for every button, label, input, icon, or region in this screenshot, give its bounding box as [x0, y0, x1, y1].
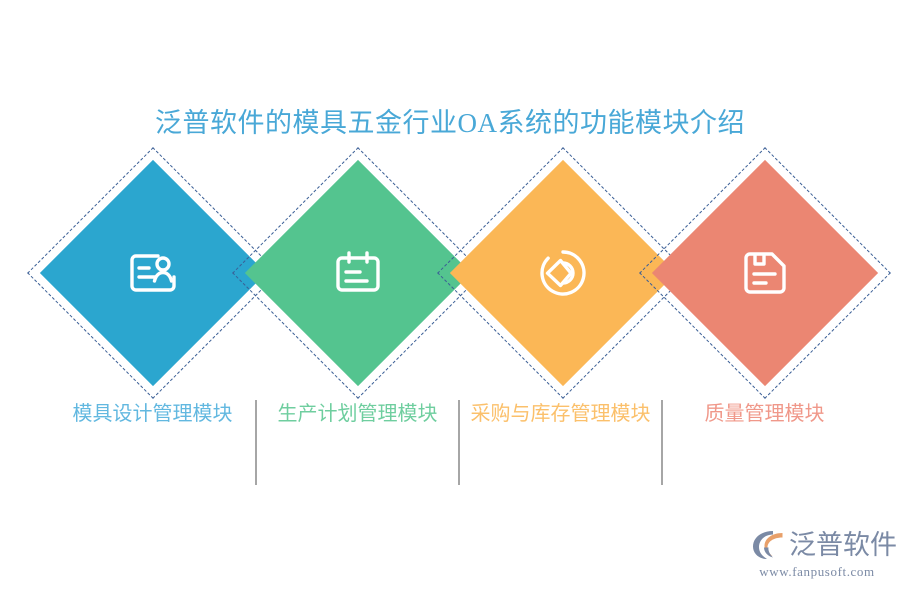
calendar-icon	[330, 245, 386, 301]
module-card-0[interactable]	[50, 165, 255, 380]
module-label-1: 生产计划管理模块	[255, 398, 460, 430]
module-diamond-row	[0, 165, 900, 380]
diamond-2	[483, 193, 643, 353]
save-document-icon	[737, 245, 793, 301]
module-label-row: 模具设计管理模块 生产计划管理模块 采购与库存管理模块 质量管理模块	[0, 398, 900, 438]
diamond-0	[73, 193, 233, 353]
module-card-2[interactable]	[460, 165, 665, 380]
page-title: 泛普软件的模具五金行业OA系统的功能模块介绍	[0, 104, 900, 142]
brand-logo: 泛普软件 www.fanpusoft.com	[752, 526, 882, 584]
module-label-2: 采购与库存管理模块	[458, 398, 663, 430]
module-label-3: 质量管理模块	[662, 398, 867, 430]
diamond-3	[685, 193, 845, 353]
module-label-0: 模具设计管理模块	[50, 398, 255, 430]
logo-name: 泛普软件	[789, 530, 897, 560]
pie-chart-icon	[535, 245, 591, 301]
diamond-1	[278, 193, 438, 353]
fanpu-logo-mark-icon	[752, 529, 786, 561]
slide-canvas: 泛普软件的模具五金行业OA系统的功能模块介绍	[0, 0, 900, 600]
logo-url: www.fanpusoft.com	[752, 564, 882, 580]
module-card-1[interactable]	[255, 165, 460, 380]
contact-card-icon	[125, 245, 181, 301]
logo-row: 泛普软件	[752, 526, 882, 564]
module-card-3[interactable]	[662, 165, 867, 380]
